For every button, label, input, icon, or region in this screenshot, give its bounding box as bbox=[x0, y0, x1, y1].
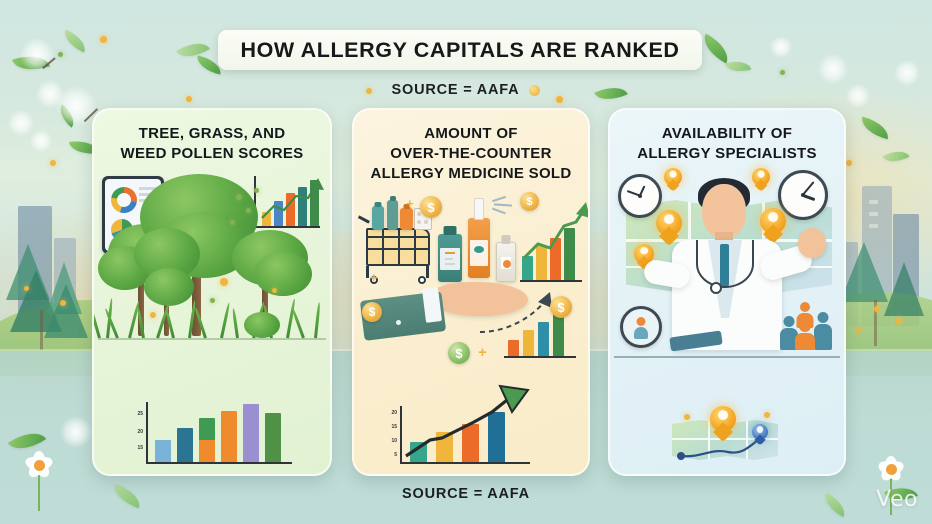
source-label-top-text: SOURCE = AAFA bbox=[392, 82, 520, 98]
daisy-flower-right bbox=[874, 452, 908, 486]
card-otc-medicine[interactable]: AMOUNT OF OVER-THE-COUNTER ALLERGY MEDIC… bbox=[352, 108, 590, 476]
y-axis-tick-20: 20 bbox=[137, 429, 143, 435]
card-pollen-title-line2: WEED POLLEN SCORES bbox=[104, 144, 320, 164]
y-axis-tick-15: 15 bbox=[137, 445, 143, 451]
destination-pin-icon bbox=[752, 424, 768, 440]
source-label-bottom: SOURCE = AAFA bbox=[0, 486, 932, 502]
card-pollen-title-line1: TREE, GRASS, AND bbox=[104, 124, 320, 144]
card-allergy-specialists[interactable]: AVAILABILITY OF ALLERGY SPECIALISTS bbox=[608, 108, 846, 476]
trend-arrow-icon bbox=[396, 384, 542, 468]
bar-4 bbox=[221, 411, 237, 462]
bar-6 bbox=[265, 413, 281, 462]
card-pollen-scores[interactable]: TREE, GRASS, AND WEED POLLEN SCORES bbox=[92, 108, 332, 476]
trend-arrow-icon bbox=[254, 176, 324, 230]
stethoscope-icon bbox=[696, 240, 754, 288]
card-medicine-title-line1: AMOUNT OF bbox=[364, 124, 578, 144]
bar-1 bbox=[155, 440, 171, 462]
y-axis-tick-25: 25 bbox=[137, 411, 143, 417]
card-medicine-title-line2: OVER-THE-COUNTER bbox=[364, 144, 578, 164]
medicine-sales-bar-chart: 20 15 10 5 bbox=[400, 406, 530, 464]
card-specialists-title: AVAILABILITY OF ALLERGY SPECIALISTS bbox=[610, 124, 844, 164]
bar-5 bbox=[243, 404, 259, 462]
daisy-flower-left bbox=[22, 448, 56, 482]
page-title: HOW ALLERGY CAPITALS ARE RANKED bbox=[218, 30, 702, 70]
pollen-mini-bar-chart bbox=[254, 176, 320, 228]
card-medicine-title: AMOUNT OF OVER-THE-COUNTER ALLERGY MEDIC… bbox=[354, 124, 588, 184]
source-label-bottom-text: SOURCE = AAFA bbox=[402, 486, 530, 502]
nasal-spray-icon bbox=[468, 218, 490, 278]
card-specialists-title-line1: AVAILABILITY OF bbox=[620, 124, 834, 144]
pollen-score-bar-chart: 25 20 15 bbox=[146, 402, 292, 464]
sun-badge-icon bbox=[529, 85, 540, 96]
card-specialists-illustration bbox=[610, 166, 844, 410]
source-label-top: SOURCE = AAFA bbox=[0, 82, 932, 98]
people-group-icon bbox=[778, 302, 836, 350]
card-specialists-title-line2: ALLERGY SPECIALISTS bbox=[620, 144, 834, 164]
veo-watermark: Veo bbox=[876, 487, 918, 512]
page-title-text: HOW ALLERGY CAPITALS ARE RANKED bbox=[240, 38, 679, 63]
route-map-illustration bbox=[672, 410, 782, 460]
card-medicine-title-line3: ALLERGY MEDICINE SOLD bbox=[364, 164, 578, 184]
card-pollen-illustration bbox=[94, 172, 330, 402]
bar-2 bbox=[177, 428, 193, 462]
medicine-bar-chart-upper bbox=[520, 226, 582, 282]
card-pollen-title: TREE, GRASS, AND WEED POLLEN SCORES bbox=[94, 124, 330, 164]
hand-icon bbox=[798, 228, 826, 258]
infographic-canvas: HOW ALLERGY CAPITALS ARE RANKED SOURCE =… bbox=[0, 0, 932, 524]
clock-icon-small bbox=[620, 306, 662, 348]
card-medicine-illustration: $ $ $ $ $ + + + bbox=[354, 190, 588, 400]
